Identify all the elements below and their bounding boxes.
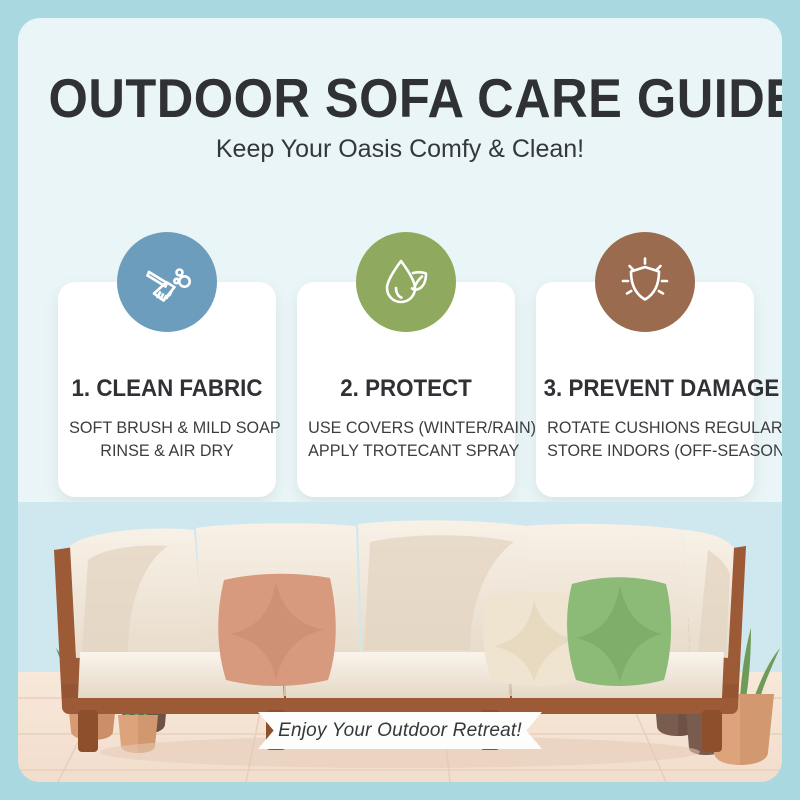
card-line-1: SOFT BRUSH & MILD SOAP [69, 416, 265, 439]
badge-circle-prevent-damage [595, 232, 695, 332]
card-title: 2. PROTECT [305, 375, 508, 403]
poster-canvas: OUTDOOR SOFA CARE GUIDE Keep Your Oasis … [18, 18, 782, 782]
card-body: USE COVERS (WINTER/RAIN) APPLY TROTECANT… [308, 416, 504, 462]
water-droplet-leaf-icon [376, 252, 436, 312]
card-line-2: APPLY TROTECANT SPRAY [308, 439, 504, 462]
scrub-brush-bubbles-icon [136, 251, 198, 313]
footer-banner: Enjoy Your Outdoor Retreat! [258, 712, 542, 749]
step-card-prevent-damage[interactable]: 3. PREVENT DAMAGE ROTATE CUSHIONS REGULA… [536, 282, 754, 497]
banner-label: Enjoy Your Outdoor Retreat! [258, 712, 542, 749]
pillow-green [567, 577, 671, 686]
step-card-protect[interactable]: 2. PROTECT USE COVERS (WINTER/RAIN) APPL… [297, 282, 515, 497]
badge-circle-protect [356, 232, 456, 332]
card-body: SOFT BRUSH & MILD SOAP RINSE & AIR DRY [69, 416, 265, 462]
card-line-2: STORE INDORS (OFF-SEASON) [547, 439, 743, 462]
card-title: 3. PREVENT DAMAGE [544, 375, 747, 403]
card-body: ROTATE CUSHIONS REGULARLY STORE INDORS (… [547, 416, 743, 462]
card-line-1: ROTATE CUSHIONS REGULARLY [547, 416, 743, 439]
card-line-1: USE COVERS (WINTER/RAIN) [308, 416, 504, 439]
card-title: 1. CLEAN FABRIC [66, 375, 269, 403]
page-title: OUTDOOR SOFA CARE GUIDE [49, 66, 752, 130]
badge-circle-clean-fabric [117, 232, 217, 332]
card-line-2: RINSE & AIR DRY [69, 439, 265, 462]
shield-rays-icon [615, 252, 675, 312]
page-subtitle: Keep Your Oasis Comfy & Clean! [18, 135, 782, 164]
pillow-terracotta [218, 574, 336, 686]
sofa-leg-1 [78, 710, 98, 752]
step-card-clean-fabric[interactable]: 1. CLEAN FABRIC SOFT BRUSH & MILD SOAP R… [58, 282, 276, 497]
sofa-leg-4 [702, 710, 722, 752]
